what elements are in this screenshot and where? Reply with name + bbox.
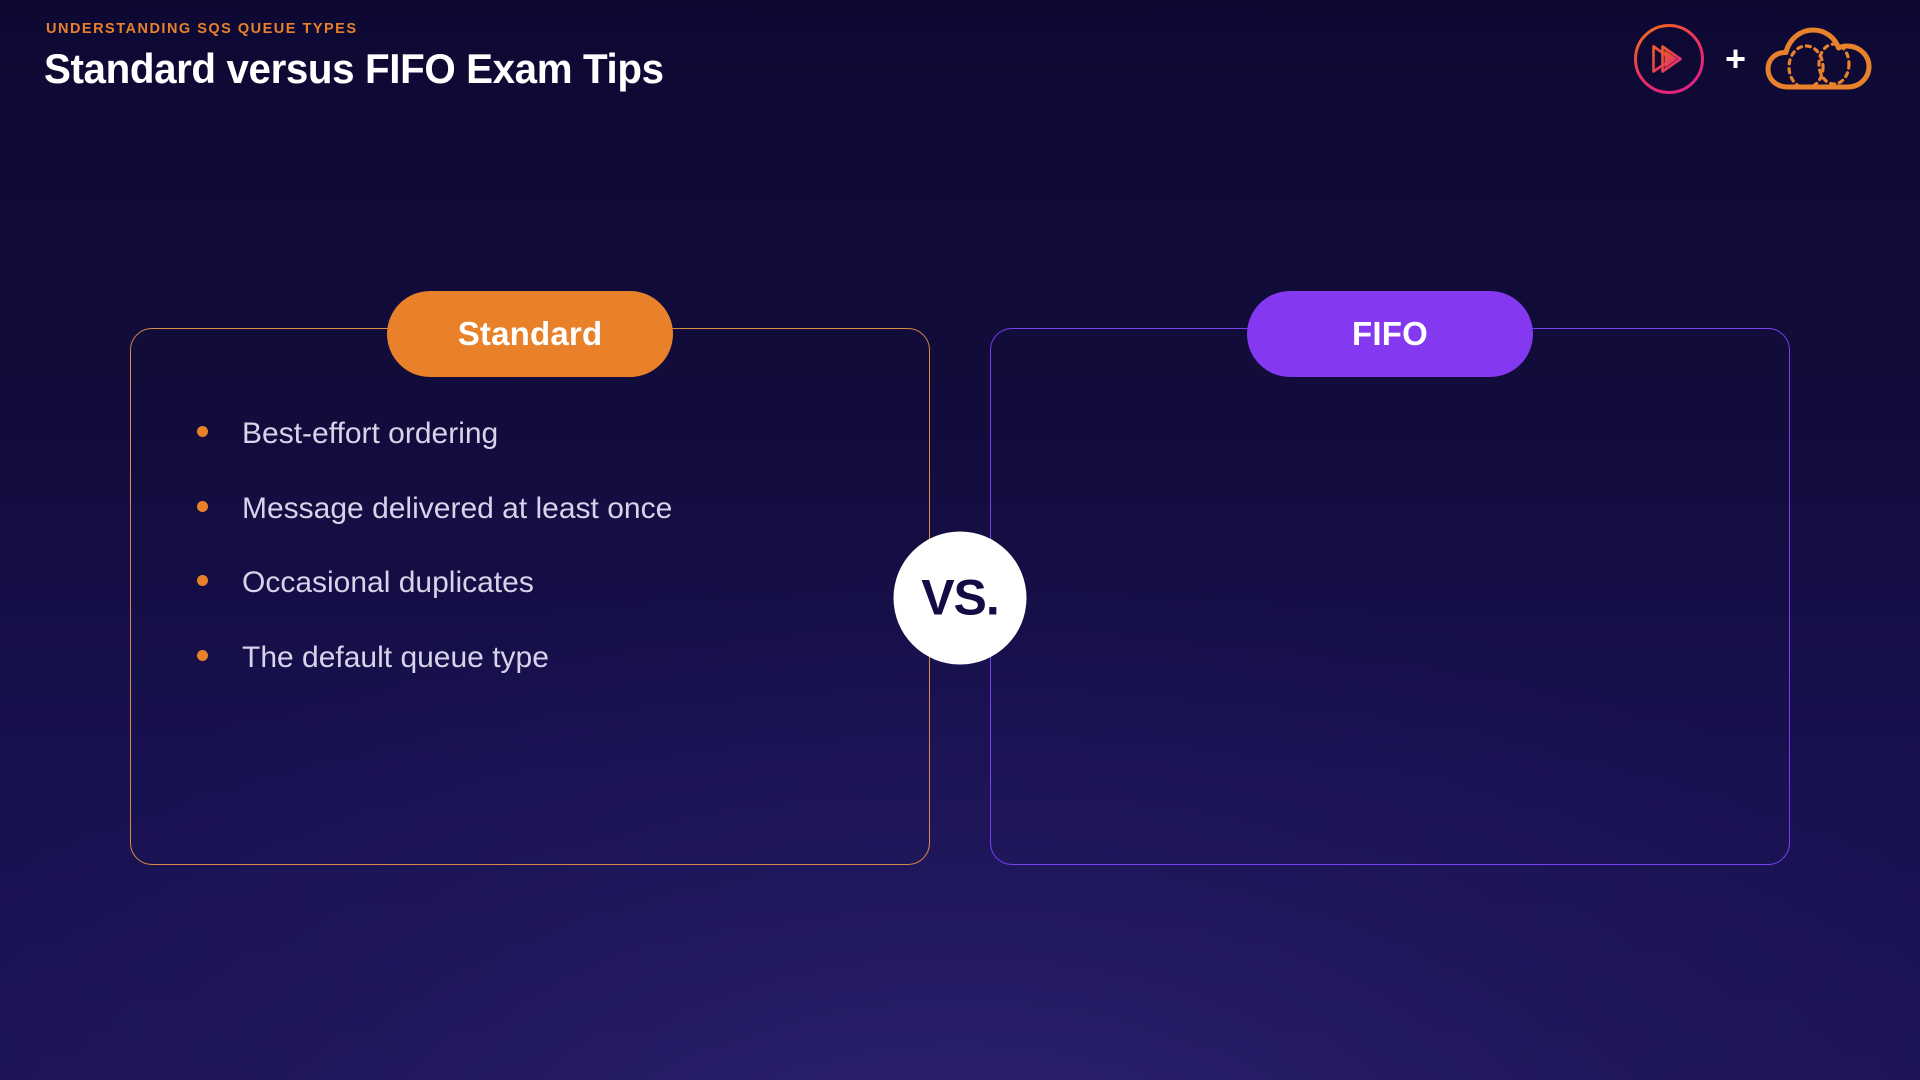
standard-card: Standard Best-effort ordering Message de… bbox=[130, 328, 930, 865]
list-item-label: Occasional duplicates bbox=[242, 566, 534, 601]
list-item-label: Message delivered at least once bbox=[242, 492, 672, 527]
standard-pill-label: Standard bbox=[387, 291, 673, 377]
bullet-dot-icon bbox=[197, 501, 208, 512]
cloud-icon bbox=[1764, 23, 1874, 95]
logo-group: + bbox=[1631, 16, 1874, 102]
page-title: Standard versus FIFO Exam Tips bbox=[44, 47, 664, 91]
header-text-block: UNDERSTANDING SQS QUEUE TYPES Standard v… bbox=[44, 22, 689, 91]
play-circle-icon bbox=[1631, 21, 1707, 97]
list-item-label: Best-effort ordering bbox=[242, 417, 498, 452]
list-item: Best-effort ordering bbox=[197, 417, 889, 452]
list-item-label: The default queue type bbox=[242, 641, 549, 676]
standard-bullet-list: Best-effort ordering Message delivered a… bbox=[197, 417, 889, 675]
slide-root: UNDERSTANDING SQS QUEUE TYPES Standard v… bbox=[0, 0, 1920, 1080]
comparison-area: Standard Best-effort ordering Message de… bbox=[130, 328, 1790, 868]
plus-separator: + bbox=[1725, 41, 1746, 77]
list-item: Message delivered at least once bbox=[197, 492, 889, 527]
list-item: Occasional duplicates bbox=[197, 566, 889, 601]
bullet-dot-icon bbox=[197, 426, 208, 437]
eyebrow-label: UNDERSTANDING SQS QUEUE TYPES bbox=[46, 22, 689, 37]
bullet-dot-icon bbox=[197, 575, 208, 586]
slide-header: UNDERSTANDING SQS QUEUE TYPES Standard v… bbox=[0, 0, 1920, 118]
list-item: The default queue type bbox=[197, 641, 889, 676]
vs-badge-label: VS. bbox=[921, 572, 999, 622]
fifo-pill-label: FIFO bbox=[1247, 291, 1533, 377]
vs-badge: VS. bbox=[894, 532, 1027, 665]
fifo-card: FIFO bbox=[990, 328, 1790, 865]
bullet-dot-icon bbox=[197, 650, 208, 661]
